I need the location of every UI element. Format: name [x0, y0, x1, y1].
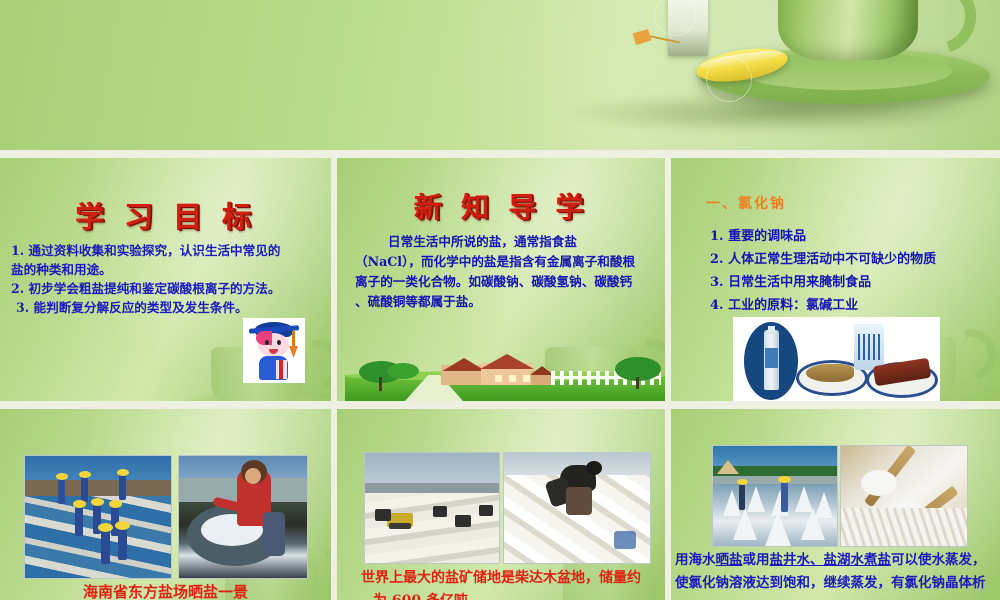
learning-goals-title-reflection: 学 习 目 标: [0, 204, 331, 226]
watermark-logo: [614, 531, 636, 549]
evap-text-c: 可以使水蒸发，: [891, 552, 986, 568]
worker-hat: [73, 500, 86, 508]
bulldozer-track: [389, 523, 411, 529]
evaporation-caption-line-1: 用海水晒盐或用盐井水、盐湖水煮盐可以使水蒸发，: [675, 549, 1000, 571]
countryside-illustration: [345, 345, 665, 401]
house-window-3: [523, 375, 530, 382]
tea-cup-illustration: [660, 0, 990, 142]
divider-horizontal-middle: [0, 401, 1000, 409]
girl-trousers: [263, 512, 285, 556]
truck-icon-2: [433, 506, 447, 517]
girl-salt-rock-image: [178, 455, 308, 579]
salt-worker: [781, 482, 788, 512]
learning-goals-list: 1. 通过资料收集和实验探究，认识生活中常见的 盐的种类和用途。 2. 初步学会…: [11, 241, 323, 317]
new-knowledge-line-2: （NaCl），而化学中的盐是指含有金属离子和酸根: [355, 252, 655, 272]
worker-hat: [56, 473, 68, 480]
worker-legs: [566, 487, 592, 515]
worker-figure: [75, 506, 83, 536]
salt-worker-hat: [778, 476, 791, 483]
graduate-kid-image: [243, 318, 305, 383]
new-knowledge-line-4: 、硫酸铜等都属于盐。: [355, 292, 655, 312]
tree-left-trunk: [379, 377, 382, 391]
salt-worker-hat: [737, 479, 748, 485]
dike-band: [25, 480, 171, 496]
salt-mine-wide-image: [364, 452, 500, 564]
dried-fish-icon: [806, 364, 854, 382]
salt-cones-image: [712, 445, 838, 547]
worker-figure: [58, 478, 65, 504]
evap-text-b: 或用: [743, 552, 770, 568]
worker-hat: [91, 498, 104, 506]
panel-evaporation: 用海水晒盐或用盐井水、盐湖水煮盐可以使水蒸发， 使氯化钠溶液达到饱和，继续蒸发，…: [671, 409, 1000, 600]
learning-goals-item-1-line-1: 1. 通过资料收集和实验探究，认识生活中常见的: [11, 241, 323, 260]
new-knowledge-line-1: 日常生活中所说的盐，通常指食盐: [355, 232, 655, 252]
kid-eye-right: [277, 340, 281, 345]
worker-figure: [119, 474, 126, 500]
nacl-item-3: 3. 日常生活中用来腌制食品: [710, 271, 990, 294]
spoon-head-1: [861, 470, 897, 496]
house-window-1: [495, 375, 502, 382]
salt-cone: [765, 512, 791, 546]
cup-body-icon: [778, 0, 918, 60]
new-knowledge-title-reflection: 新 知 导 学: [337, 196, 665, 217]
learning-goals-item-1-line-2: 盐的种类和用途。: [11, 260, 323, 279]
salt-terraces: [365, 493, 499, 563]
house-2-roof: [475, 354, 539, 369]
evaporation-caption-line-2: 使氯化钠溶液达到饱和，继续蒸发，有氯化钠晶体析: [675, 572, 1000, 594]
slide-canvas: 学 习 目 标 学 习 目 标 1. 通过资料收集和实验探究，认识生活中常见的 …: [0, 0, 1000, 600]
kid-hair: [256, 331, 272, 345]
worker-salt-rocks-image: [503, 452, 651, 564]
sea-salt-caption: 海南省东方盐场晒盐一景: [0, 581, 331, 600]
salt-mine-caption-line-1: 世界上最大的盐矿储地是柴达木盆地，储量约: [337, 567, 665, 587]
worker-figure: [118, 528, 127, 560]
annotation-ring-lemon: [706, 56, 752, 102]
salt-worker: [739, 484, 745, 510]
divider-horizontal-top: [0, 150, 1000, 158]
children-salt-field-image: [24, 455, 172, 579]
truck-icon-1: [375, 509, 391, 521]
panel-salt-mine: 世界上最大的盐矿储地是柴达木盆地，储量约 为 600 多亿吨。: [337, 409, 665, 600]
panel-sodium-chloride: 一、氯化钠 1. 重要的调味品 2. 人体正常生理活动中不可缺少的物质 3. 日…: [671, 158, 1000, 401]
bottle-neck: [768, 326, 775, 334]
nacl-item-1: 1. 重要的调味品: [710, 225, 990, 248]
worker-hat: [79, 471, 91, 478]
worker-figure: [101, 530, 110, 564]
salt-spoons-image: [840, 445, 968, 547]
kid-eye-left: [265, 340, 269, 345]
tea-bag-icon: [668, 0, 708, 56]
tree-right-trunk: [636, 377, 639, 389]
kid-book-spine: [279, 360, 283, 379]
panel-sea-salt: 海南省东方盐场晒盐一景: [0, 409, 331, 600]
annotation-ring-tea: [654, 0, 696, 36]
evap-underline-1: 晒盐: [716, 552, 743, 568]
slide-banner: [0, 0, 1000, 150]
mine-horizon-structures: [365, 483, 499, 493]
scattered-salt-crystals: [841, 508, 967, 546]
worker-figure: [81, 476, 88, 502]
sodium-chloride-heading: 一、氯化钠: [706, 193, 786, 213]
new-knowledge-paragraph: 日常生活中所说的盐，通常指食盐 （NaCl），而化学中的盐是指含有金属离子和酸根…: [355, 232, 655, 312]
grad-tassel: [292, 331, 295, 347]
truck-icon-4: [479, 505, 493, 516]
worker-hat: [109, 500, 122, 508]
truck-icon-3: [455, 515, 471, 527]
worker-head: [586, 461, 602, 475]
salt-cone: [801, 508, 825, 540]
grad-tassel-tip: [289, 346, 298, 358]
salt-bag-label: [858, 334, 880, 360]
bottle-label: [765, 348, 778, 368]
nacl-item-2: 2. 人体正常生理活动中不可缺少的物质: [710, 248, 990, 271]
evap-underline-2: 盐井水、盐湖水煮盐: [770, 552, 892, 568]
sodium-chloride-list: 1. 重要的调味品 2. 人体正常生理活动中不可缺少的物质 3. 日常生活中用来…: [710, 225, 990, 317]
salt-mine-caption-line-2: 为 600 多亿吨。: [373, 590, 665, 600]
panel-learning-goals: 学 习 目 标 学 习 目 标 1. 通过资料收集和实验探究，认识生活中常见的 …: [0, 158, 331, 401]
worker-hat: [98, 523, 113, 532]
learning-goals-item-2: 2. 初步学会粗盐提纯和鉴定碳酸根离子的方法。: [11, 279, 323, 298]
evap-text-a: 用海水: [675, 552, 716, 568]
house-window-2: [509, 375, 516, 382]
girl-face: [245, 468, 261, 484]
tea-bag-tag: [633, 29, 652, 45]
worker-hat: [117, 469, 129, 476]
learning-goals-item-3: 3. 能判断复分解反应的类型及发生条件。: [11, 298, 323, 317]
panel-new-knowledge: 新 知 导 学 新 知 导 学 日常生活中所说的盐，通常指食盐 （NaCl），而…: [337, 158, 665, 401]
tree-left2-canopy: [387, 363, 419, 379]
nacl-item-4: 4. 工业的原料：氯碱工业: [710, 294, 990, 317]
worker-hat: [115, 521, 130, 530]
new-knowledge-line-3: 离子的一类化合物。如碳酸钠、碳酸氢钠、碳酸钙: [355, 272, 655, 292]
salt-cone: [733, 508, 757, 540]
salt-products-image: [733, 317, 940, 401]
